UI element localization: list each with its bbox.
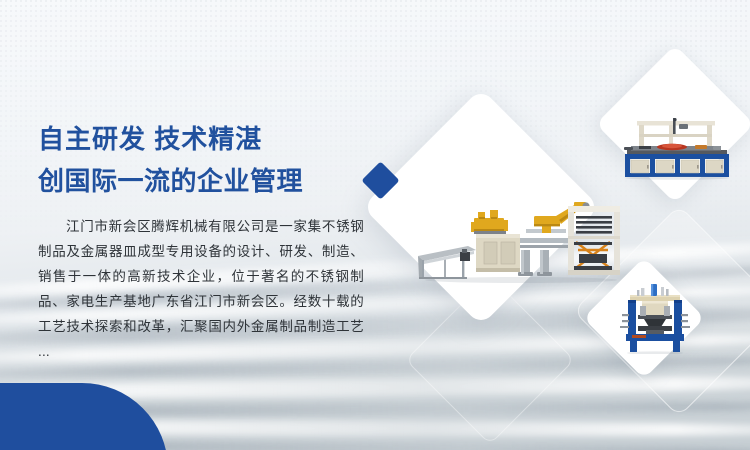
- corner-blob-shape: [0, 383, 168, 450]
- company-description-paragraph: 江门市新会区腾辉机械有限公司是一家集不锈钢制品及金属器皿成型专用设备的设计、研发…: [38, 214, 364, 364]
- image-card-polishing-bench: [596, 45, 750, 203]
- image-card-forming-press: [583, 257, 705, 379]
- intro-text-column: 自主研发 技术精湛 创国际一流的企业管理 江门市新会区腾辉机械有限公司是一家集不…: [38, 118, 368, 364]
- image-card-production-line: [362, 88, 600, 326]
- headline-line-1: 自主研发 技术精湛: [38, 118, 368, 160]
- page-title: 自主研发 技术精湛 创国际一流的企业管理: [38, 118, 368, 202]
- company-intro-banner: 自主研发 技术精湛 创国际一流的企业管理 江门市新会区腾辉机械有限公司是一家集不…: [0, 0, 750, 450]
- headline-line-2: 创国际一流的企业管理: [38, 160, 368, 202]
